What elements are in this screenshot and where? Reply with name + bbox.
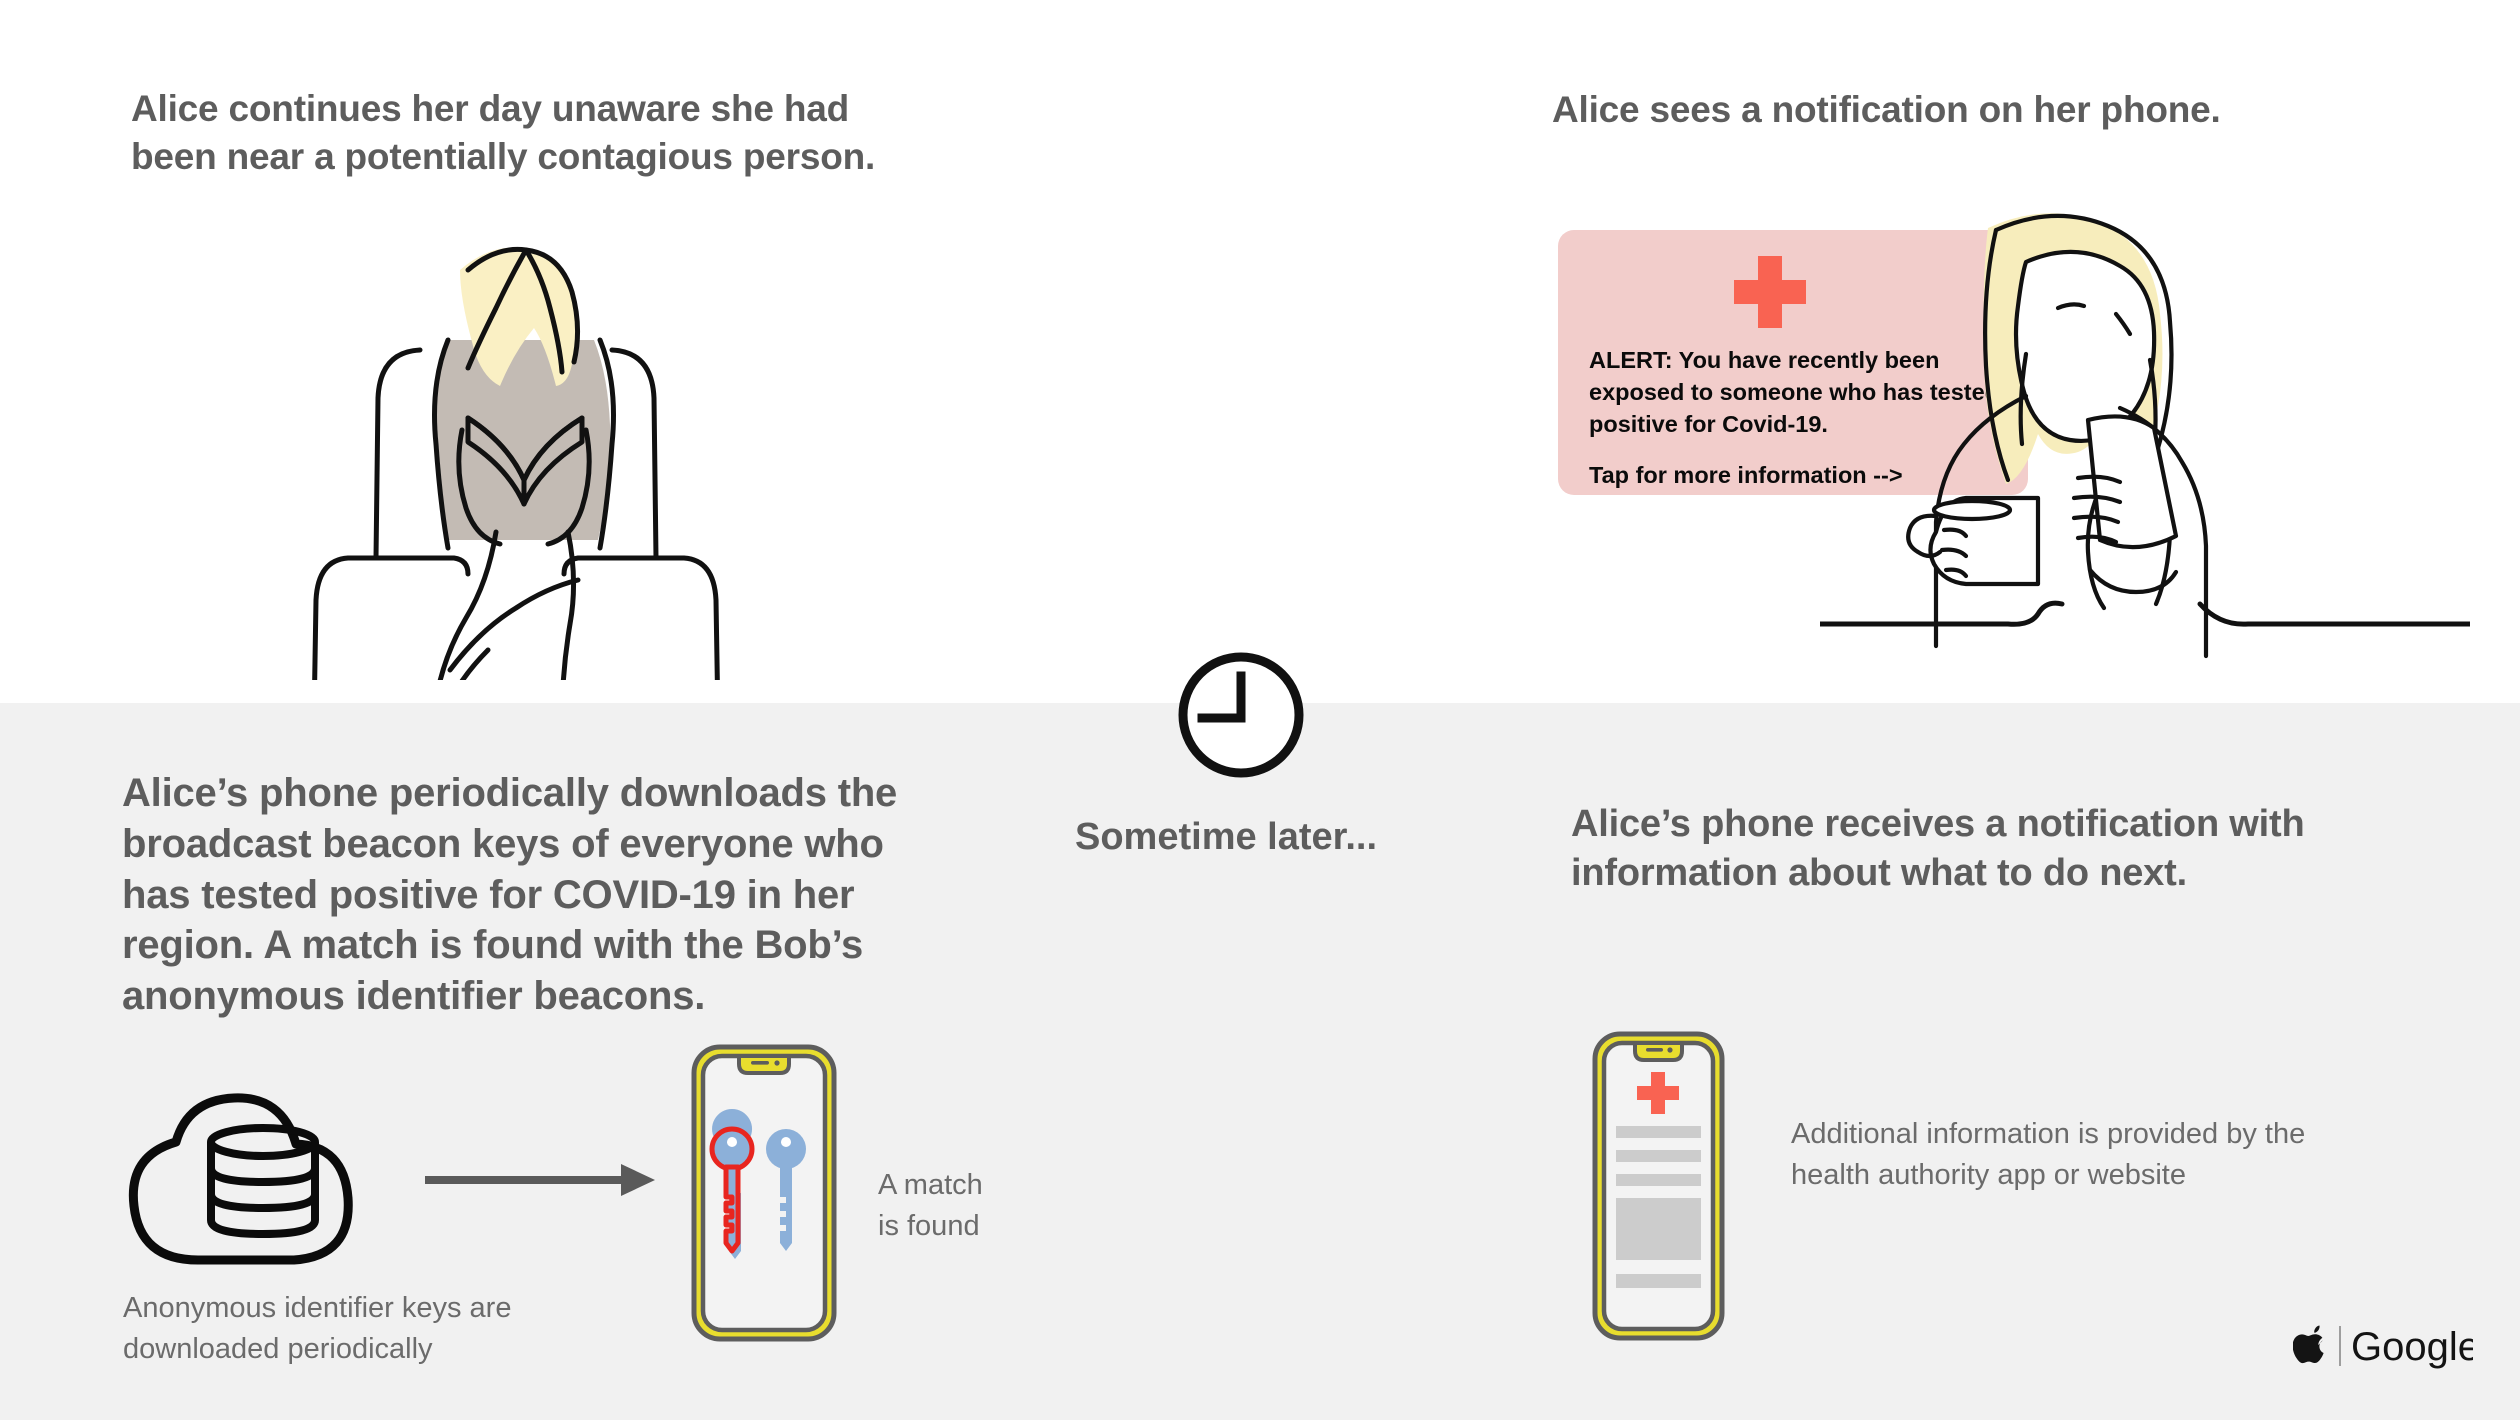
top-left-heading: Alice continues her day unaware she had … (131, 85, 1031, 181)
top-right-heading: Alice sees a notification on her phone. (1552, 86, 2452, 134)
alice-with-phone-illustration (1820, 210, 2470, 670)
phone-with-matching-keys[interactable] (690, 1043, 838, 1343)
match-found-caption: A match is found (878, 1165, 1138, 1247)
apple-google-lockup: Google (2293, 1318, 2473, 1374)
bottom-left-heading: Alice’s phone periodically downloads the… (122, 768, 922, 1022)
sometime-later-label: Sometime later... (1075, 816, 1377, 859)
additional-info-caption: Additional information is provided by th… (1791, 1114, 2411, 1196)
cloud-database-icon (120, 1060, 410, 1280)
bottom-right-heading: Alice’s phone receives a notification wi… (1571, 800, 2421, 899)
cloud-caption: Anonymous identifier keys are downloaded… (123, 1288, 623, 1370)
medical-cross-icon (1734, 256, 1806, 328)
phone-health-authority-app[interactable] (1591, 1030, 1726, 1342)
clock-icon (1172, 646, 1310, 784)
google-wordmark: Google (2351, 1325, 2473, 1369)
slide-canvas: Alice continues her day unaware she had … (0, 0, 2520, 1420)
apple-logo-icon (2293, 1326, 2324, 1364)
arrow-right-icon (425, 1160, 655, 1200)
armchair-reading-illustration (300, 240, 740, 680)
